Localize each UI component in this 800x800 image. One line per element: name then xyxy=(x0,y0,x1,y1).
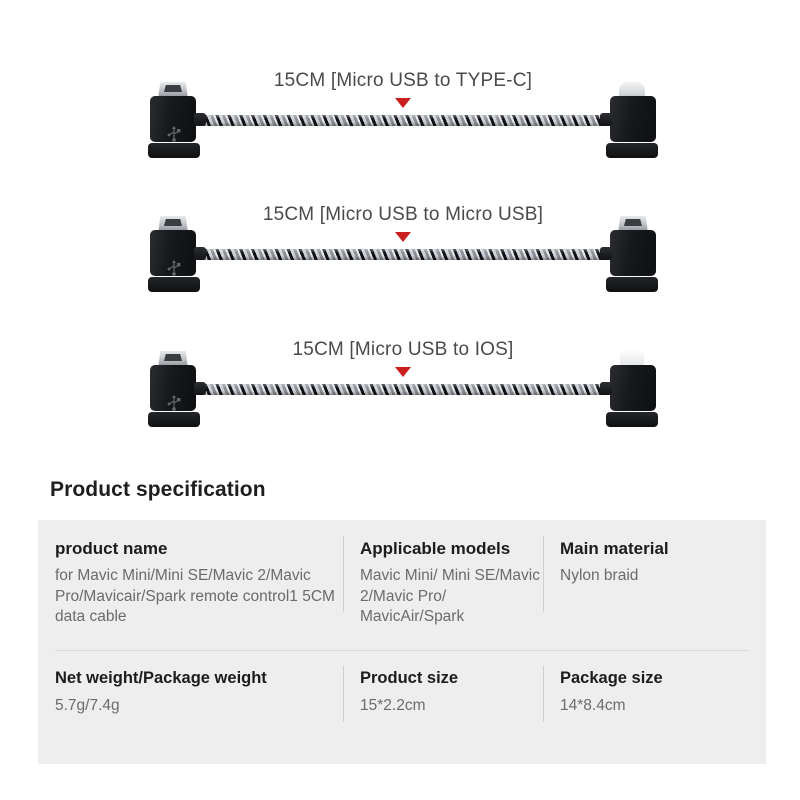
micro-usb-connector xyxy=(596,216,658,292)
product-item: 15CM [Micro USB to TYPE-C] xyxy=(148,62,658,162)
spec-value: 14*8.4cm xyxy=(560,696,760,716)
cable-caption: 15CM [Micro USB to IOS] xyxy=(148,339,658,361)
spec-value: Nylon braid xyxy=(560,566,760,586)
connector-body xyxy=(150,96,196,142)
strain-relief xyxy=(194,382,206,395)
spec-cell-product-size: Product size 15*2.2cm xyxy=(360,650,550,764)
spec-label: Main material xyxy=(560,538,760,559)
braided-cable-cord xyxy=(196,115,608,126)
braided-cable-cord xyxy=(196,249,608,260)
connector-base xyxy=(606,143,658,158)
connector-base xyxy=(606,277,658,292)
connector-body xyxy=(610,96,656,142)
strain-relief xyxy=(194,113,206,126)
table-row: Net weight/Package weight 5.7g/7.4g Prod… xyxy=(38,650,766,764)
spec-label: Applicable models xyxy=(360,538,550,559)
spec-value: 15*2.2cm xyxy=(360,696,550,716)
strain-relief xyxy=(600,382,612,395)
connector-base xyxy=(148,412,200,427)
usb-icon xyxy=(164,126,184,142)
product-item: 15CM [Micro USB to IOS] xyxy=(148,331,658,431)
braided-cable-cord xyxy=(196,384,608,395)
table-row: product name for Mavic Mini/Mini SE/Mavi… xyxy=(38,520,766,650)
strain-relief xyxy=(600,247,612,260)
spec-cell-applicable-models: Applicable models Mavic Mini/ Mini SE/Ma… xyxy=(360,520,550,650)
spec-value: for Mavic Mini/Mini SE/Mavic 2/Mavic Pro… xyxy=(55,566,343,627)
spec-cell-net-weight: Net weight/Package weight 5.7g/7.4g xyxy=(55,650,343,764)
spec-cell-package-size: Package size 14*8.4cm xyxy=(560,650,760,764)
connector-body xyxy=(150,365,196,411)
connector-body xyxy=(610,365,656,411)
cable-caption: 15CM [Micro USB to TYPE-C] xyxy=(148,70,658,92)
connector-body xyxy=(150,230,196,276)
usb-icon xyxy=(164,395,184,411)
connector-body xyxy=(610,230,656,276)
red-triangle-marker xyxy=(395,98,411,108)
micro-usb-connector xyxy=(148,351,210,427)
product-images-area: 15CM [Micro USB to TYPE-C] xyxy=(0,0,800,462)
specification-table: product name for Mavic Mini/Mini SE/Mavi… xyxy=(38,520,766,764)
spec-label: Package size xyxy=(560,668,760,689)
spec-cell-product-name: product name for Mavic Mini/Mini SE/Mavi… xyxy=(55,520,343,650)
spec-value: 5.7g/7.4g xyxy=(55,696,343,716)
strain-relief xyxy=(194,247,206,260)
connector-base xyxy=(148,277,200,292)
spec-label: product name xyxy=(55,538,343,559)
red-triangle-marker xyxy=(395,232,411,242)
spec-label: Net weight/Package weight xyxy=(55,668,343,689)
ios-lightning-connector xyxy=(596,351,658,427)
red-triangle-marker xyxy=(395,367,411,377)
connector-base xyxy=(148,143,200,158)
type-c-connector xyxy=(596,82,658,158)
cable-caption: 15CM [Micro USB to Micro USB] xyxy=(148,204,658,226)
spec-label: Product size xyxy=(360,668,550,689)
strain-relief xyxy=(600,113,612,126)
usb-icon xyxy=(164,260,184,276)
micro-usb-connector xyxy=(148,82,210,158)
product-item: 15CM [Micro USB to Micro USB] xyxy=(148,196,658,296)
spec-value: Mavic Mini/ Mini SE/Mavic 2/Mavic Pro/ M… xyxy=(360,566,550,627)
connector-base xyxy=(606,412,658,427)
spec-cell-main-material: Main material Nylon braid xyxy=(560,520,760,650)
micro-usb-connector xyxy=(148,216,210,292)
section-title: Product specification xyxy=(50,478,266,502)
